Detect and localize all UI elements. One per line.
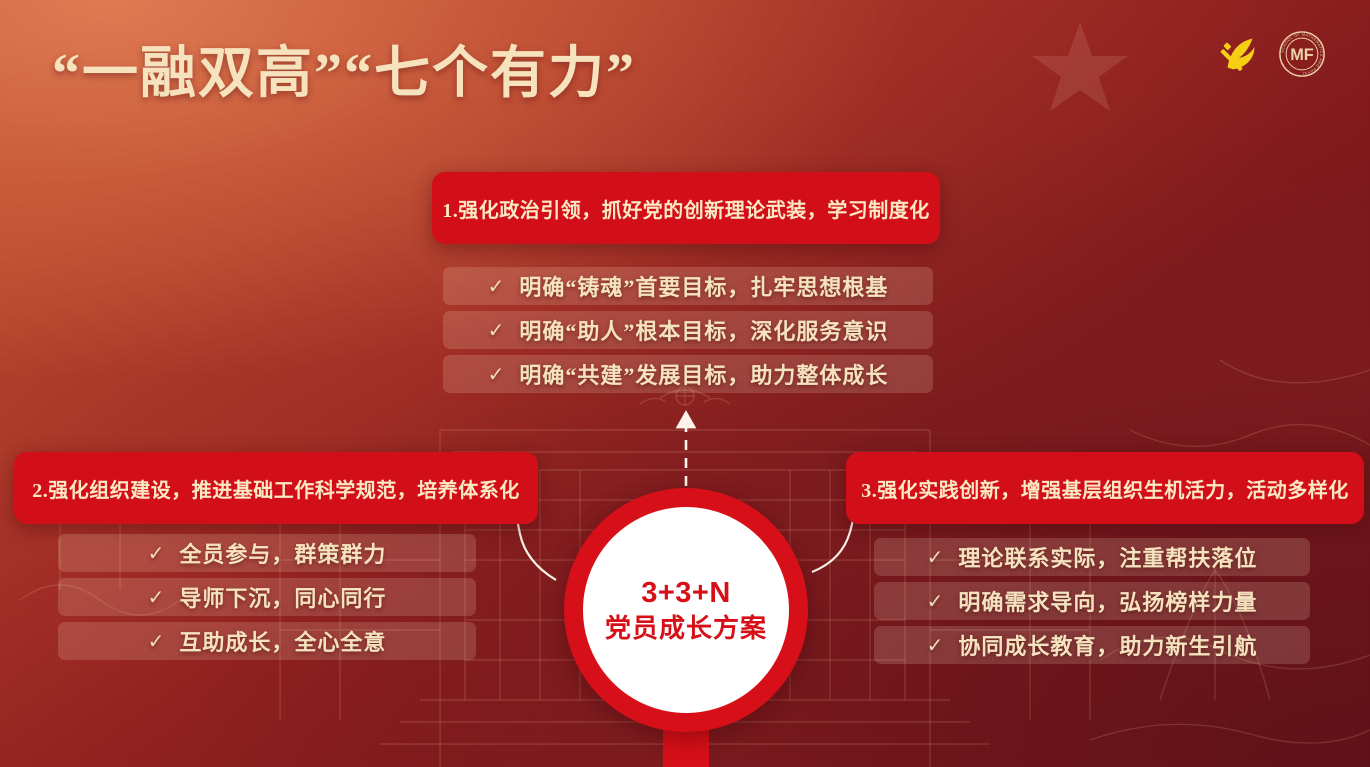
item-label: 明确“助人”根本目标，深化服务意识 bbox=[519, 314, 888, 346]
group-1-item-3[interactable]: ✓ 明确“共建”发展目标，助力整体成长 bbox=[443, 355, 933, 393]
check-icon: ✓ bbox=[488, 318, 506, 343]
group-2-item-2[interactable]: ✓ 导师下沉，同心同行 bbox=[58, 578, 476, 616]
badge-line-2: 党员成长方案 bbox=[605, 612, 767, 645]
item-label: 明确需求导向，弘扬榜样力量 bbox=[958, 585, 1257, 617]
item-label: 明确“铸魂”首要目标，扎牢思想根基 bbox=[519, 270, 888, 302]
badge-line-1: 3+3+N bbox=[641, 575, 731, 612]
check-icon: ✓ bbox=[148, 629, 166, 654]
check-icon: ✓ bbox=[148, 585, 166, 610]
school-mf-logo-icon: MF SCHOOL OF MATHEMATICS AND PHYSICS bbox=[1278, 30, 1326, 78]
group-2-item-1[interactable]: ✓ 全员参与，群策群力 bbox=[58, 534, 476, 572]
group-3-item-2[interactable]: ✓ 明确需求导向，弘扬榜样力量 bbox=[874, 582, 1310, 620]
group-2-item-3[interactable]: ✓ 互助成长，全心全意 bbox=[58, 622, 476, 660]
central-scheme-badge[interactable]: 3+3+N 党员成长方案 bbox=[564, 488, 808, 767]
item-label: 明确“共建”发展目标，助力整体成长 bbox=[519, 358, 888, 390]
check-icon: ✓ bbox=[148, 541, 166, 566]
check-icon: ✓ bbox=[927, 545, 945, 570]
group-1-item-2[interactable]: ✓ 明确“助人”根本目标，深化服务意识 bbox=[443, 311, 933, 349]
group-3-item-3[interactable]: ✓ 协同成长教育，助力新生引航 bbox=[874, 626, 1310, 664]
slide-canvas: “一融双高”“七个有力” MF SCHOOL OF MATHEMATICS AN… bbox=[0, 0, 1370, 767]
group-1-heading[interactable]: 1.强化政治引领，抓好党的创新理论武装，学习制度化 bbox=[432, 172, 940, 244]
five-point-star-watermark bbox=[1032, 22, 1128, 111]
item-label: 协同成长教育，助力新生引航 bbox=[958, 629, 1257, 661]
group-2-heading[interactable]: 2.强化组织建设，推进基础工作科学规范，培养体系化 bbox=[14, 452, 538, 524]
item-label: 全员参与，群策群力 bbox=[179, 537, 386, 569]
hammer-sickle-icon bbox=[1216, 30, 1264, 78]
magnifier-lens: 3+3+N 党员成长方案 bbox=[583, 507, 789, 713]
check-icon: ✓ bbox=[488, 362, 506, 387]
logo-group: MF SCHOOL OF MATHEMATICS AND PHYSICS bbox=[1216, 30, 1326, 78]
check-icon: ✓ bbox=[927, 589, 945, 614]
group-1-item-1[interactable]: ✓ 明确“铸魂”首要目标，扎牢思想根基 bbox=[443, 267, 933, 305]
check-icon: ✓ bbox=[927, 633, 945, 658]
group-3-item-1[interactable]: ✓ 理论联系实际，注重帮扶落位 bbox=[874, 538, 1310, 576]
item-label: 互助成长，全心全意 bbox=[179, 625, 386, 657]
magnifier-ring: 3+3+N 党员成长方案 bbox=[564, 488, 808, 732]
item-label: 理论联系实际，注重帮扶落位 bbox=[958, 541, 1257, 573]
group-3-heading[interactable]: 3.强化实践创新，增强基层组织生机活力，活动多样化 bbox=[846, 452, 1364, 524]
page-title: “一融双高”“七个有力” bbox=[52, 28, 636, 109]
svg-text:MF: MF bbox=[1290, 46, 1314, 64]
check-icon: ✓ bbox=[488, 274, 506, 299]
item-label: 导师下沉，同心同行 bbox=[179, 581, 386, 613]
